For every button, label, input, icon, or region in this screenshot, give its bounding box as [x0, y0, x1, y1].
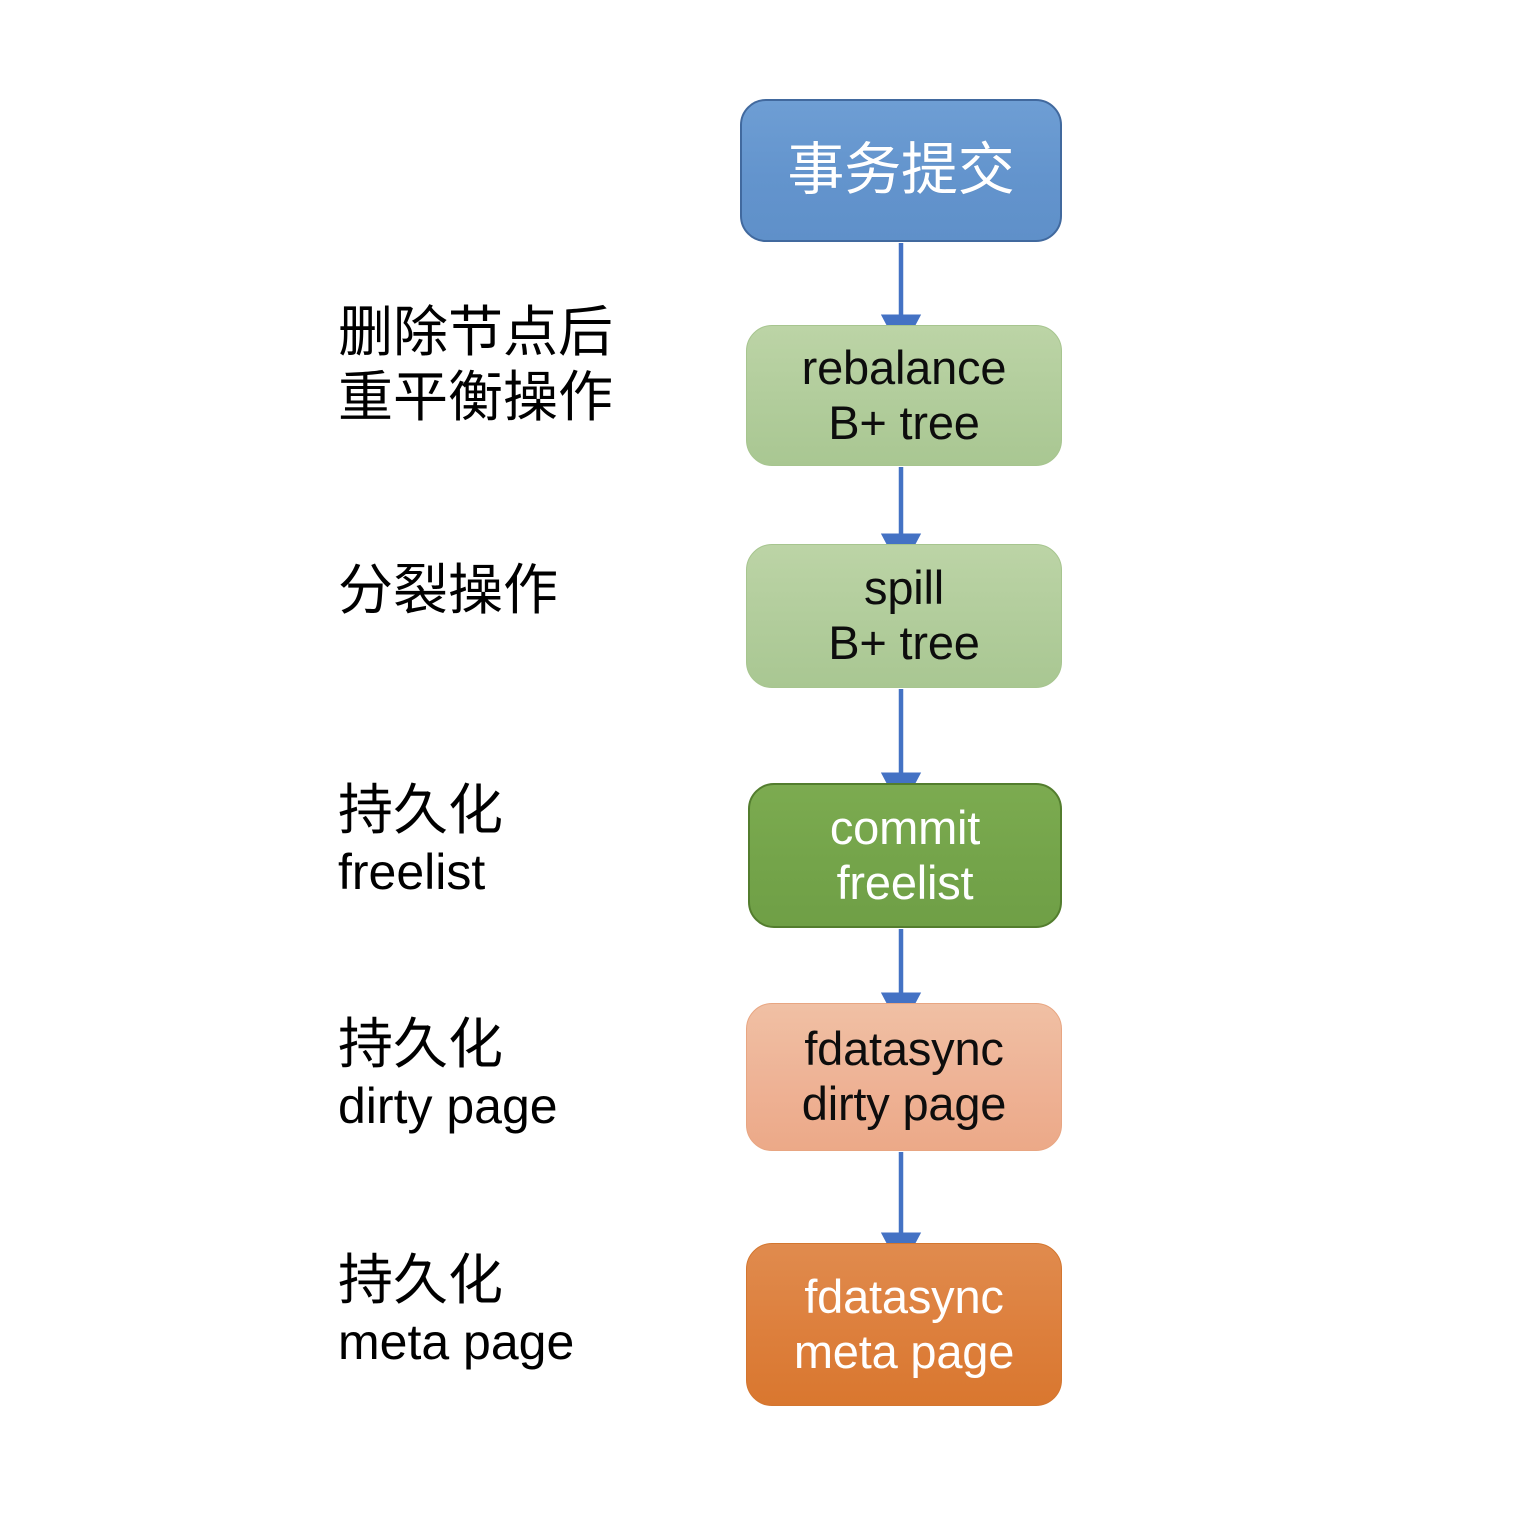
caption-meta-page: 持久化 meta page [338, 1248, 574, 1372]
node-fdatasync-meta-page-line1: fdatasync [804, 1270, 1003, 1325]
node-spill-btree-line2: B+ tree [828, 616, 979, 671]
node-spill-btree[interactable]: spill B+ tree [746, 544, 1062, 688]
caption-spill: 分裂操作 [338, 558, 558, 623]
node-commit-freelist[interactable]: commit freelist [748, 783, 1062, 928]
caption-freelist: 持久化 freelist [338, 778, 503, 902]
node-rebalance-btree-line2: B+ tree [828, 396, 979, 451]
caption-meta-page-line1: 持久化 [338, 1248, 574, 1313]
node-tx-commit[interactable]: 事务提交 [740, 99, 1062, 242]
caption-dirty-page-line1: 持久化 [338, 1012, 558, 1077]
node-commit-freelist-line2: freelist [837, 856, 974, 911]
node-fdatasync-dirty-page[interactable]: fdatasync dirty page [746, 1003, 1062, 1151]
node-fdatasync-dirty-page-line2: dirty page [802, 1077, 1006, 1132]
node-spill-btree-line1: spill [864, 561, 944, 616]
caption-meta-page-line2: meta page [338, 1313, 574, 1372]
caption-dirty-page-line2: dirty page [338, 1077, 558, 1136]
caption-dirty-page: 持久化 dirty page [338, 1012, 558, 1136]
caption-freelist-line1: 持久化 [338, 778, 503, 843]
diagram-canvas: 删除节点后 重平衡操作 分裂操作 持久化 freelist 持久化 dirty … [0, 0, 1536, 1532]
node-tx-commit-label: 事务提交 [787, 137, 1014, 203]
caption-rebalance-line1: 删除节点后 [338, 300, 613, 365]
caption-freelist-line2: freelist [338, 843, 503, 902]
caption-spill-line1: 分裂操作 [338, 558, 558, 623]
caption-rebalance-line2: 重平衡操作 [338, 365, 613, 430]
caption-rebalance: 删除节点后 重平衡操作 [338, 300, 613, 430]
node-fdatasync-meta-page-line2: meta page [794, 1325, 1014, 1380]
node-commit-freelist-line1: commit [830, 801, 980, 856]
node-rebalance-btree-line1: rebalance [802, 341, 1007, 396]
node-rebalance-btree[interactable]: rebalance B+ tree [746, 325, 1062, 466]
node-fdatasync-meta-page[interactable]: fdatasync meta page [746, 1243, 1062, 1406]
node-fdatasync-dirty-page-line1: fdatasync [804, 1022, 1003, 1077]
